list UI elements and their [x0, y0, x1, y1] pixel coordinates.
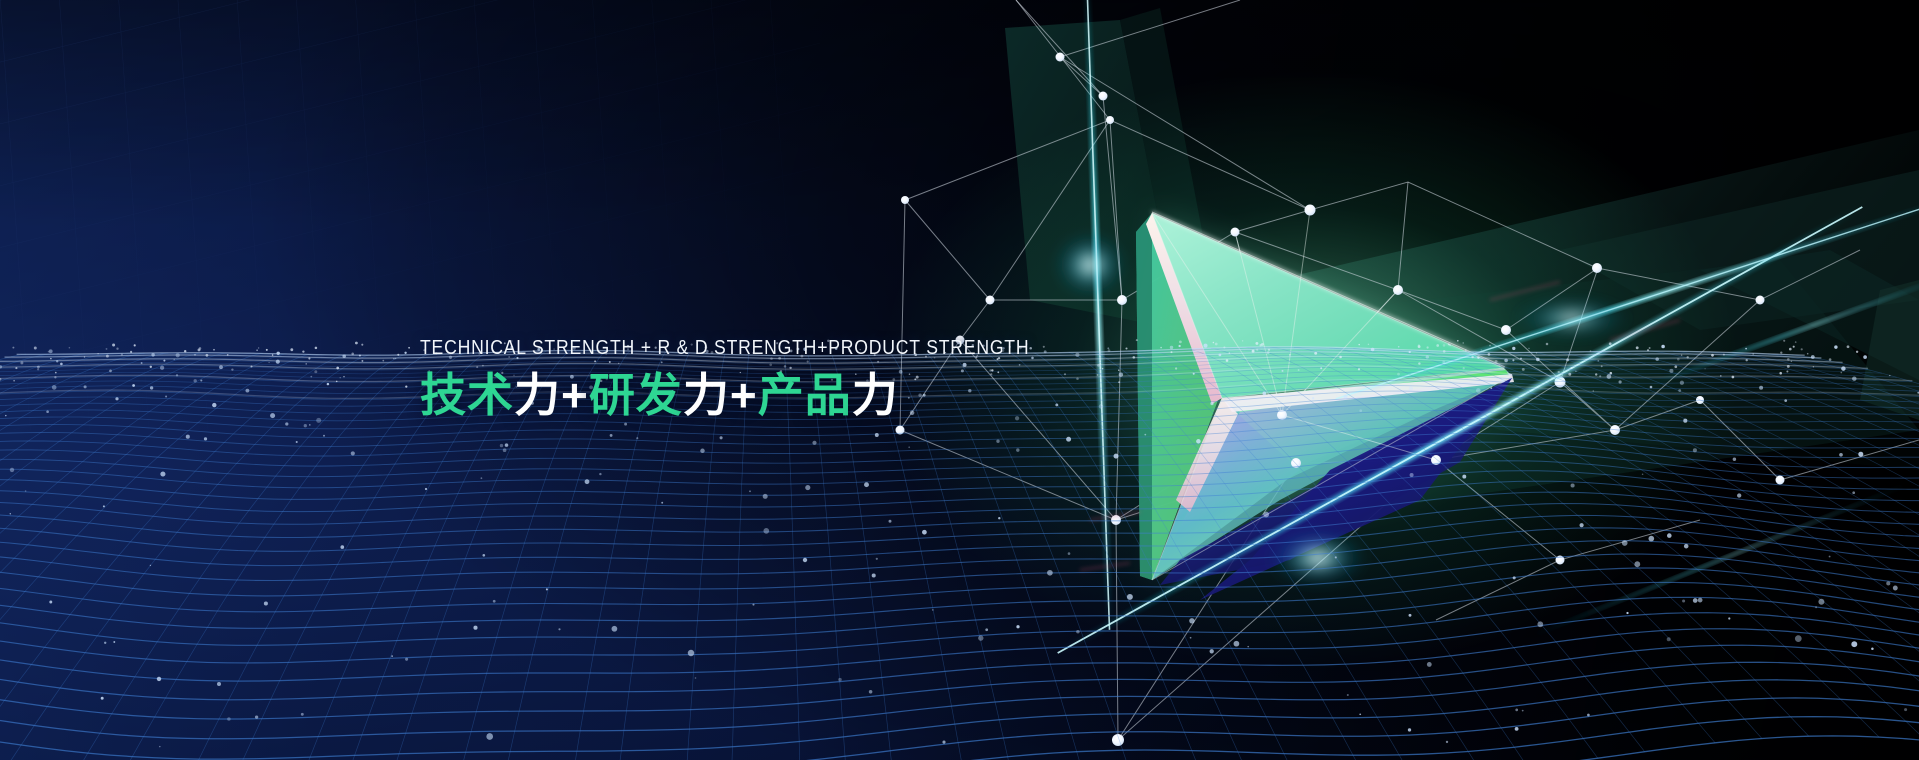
headline-segment-5: 力 — [683, 368, 730, 422]
headline-segment-7: 产品 — [758, 368, 852, 422]
headline-segment-2: 力 — [514, 368, 561, 422]
headline-block: TECHNICAL STRENGTH + R & D STRENGTH+PROD… — [420, 338, 1060, 421]
headline-segment-6: + — [730, 369, 758, 421]
eyebrow-text: TECHNICAL STRENGTH + R & D STRENGTH+PROD… — [420, 338, 970, 359]
headline-segment-3: + — [561, 369, 589, 421]
headline-segment-1: 技术 — [420, 368, 514, 422]
page-title: 技术力+研发力+产品力 — [420, 370, 1060, 422]
headline-segment-8: 力 — [852, 368, 899, 422]
hero-banner: TECHNICAL STRENGTH + R & D STRENGTH+PROD… — [0, 0, 1919, 760]
headline-segment-4: 研发 — [589, 368, 683, 422]
